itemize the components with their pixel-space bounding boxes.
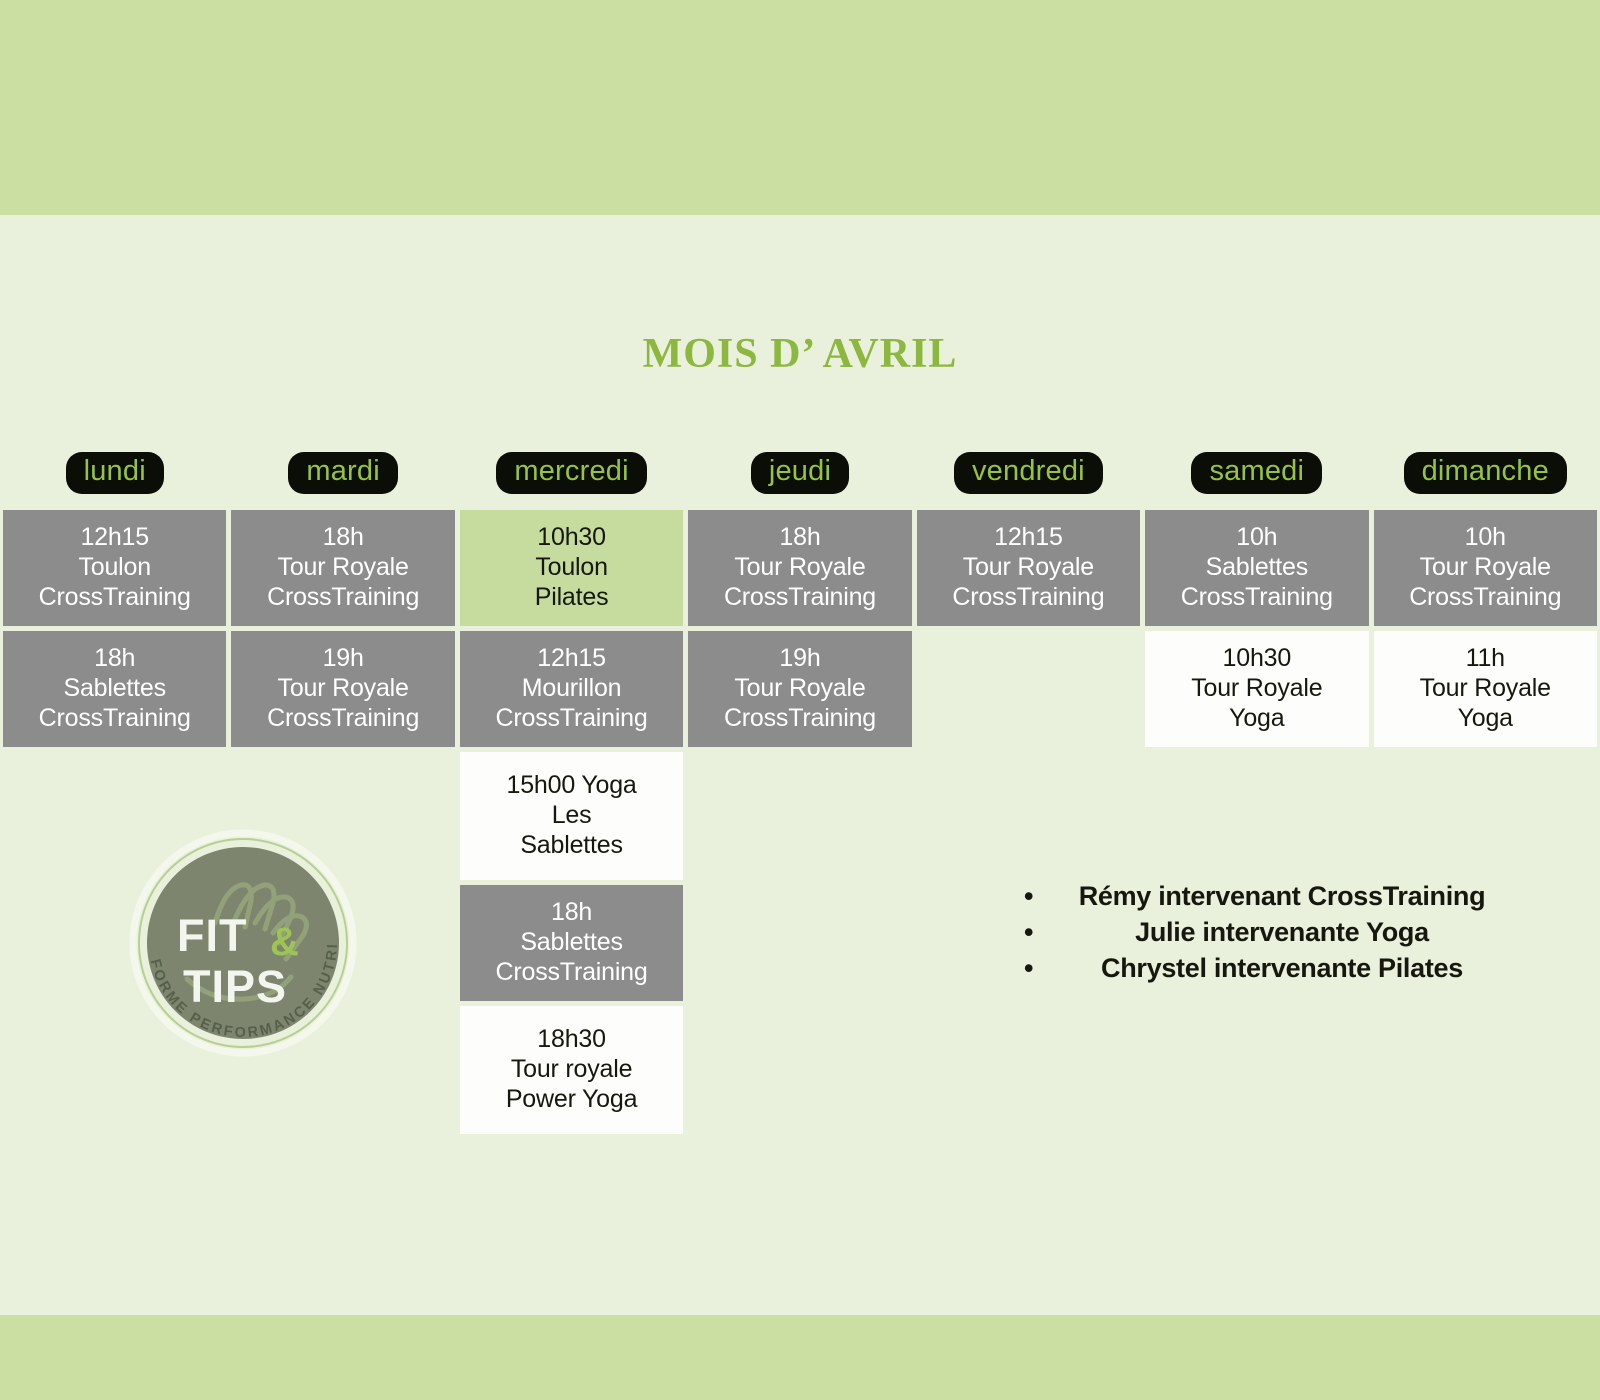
session-activity: CrossTraining [9,703,220,733]
session-place: Tour royale [466,1054,677,1084]
session-place: Les [466,800,677,830]
session-card-list: 10h30ToulonPilates12h15MourillonCrossTra… [460,510,683,1134]
session-activity: CrossTraining [466,957,677,987]
session-place: Tour Royale [694,552,905,582]
session-card-list: 12h15ToulonCrossTraining18hSablettesCros… [3,510,226,747]
bullet-icon: • [1024,914,1033,950]
session-place: Sablettes [1151,552,1362,582]
session-activity: Yoga [1151,703,1362,733]
day-pill-samedi[interactable]: samedi [1191,452,1322,494]
session-place: Toulon [466,552,677,582]
bottom-green-band [0,1315,1600,1400]
session-card-list: 18hTour RoyaleCrossTraining19hTour Royal… [688,510,911,747]
session-card-list: 12h15Tour RoyaleCrossTraining [917,510,1140,626]
session-card[interactable]: 15h00 YogaLesSablettes [460,752,683,880]
session-card[interactable]: 12h15Tour RoyaleCrossTraining [917,510,1140,626]
day-column-lundi: lundi12h15ToulonCrossTraining18hSablette… [3,452,226,747]
session-card[interactable]: 11hTour RoyaleYoga [1374,631,1597,747]
session-place: Sablettes [466,927,677,957]
session-place: Tour Royale [923,552,1134,582]
session-card[interactable]: 12h15ToulonCrossTraining [3,510,226,626]
session-activity: CrossTraining [1380,582,1591,612]
day-column-jeudi: jeudi18hTour RoyaleCrossTraining19hTour … [688,452,911,747]
session-activity: CrossTraining [694,703,905,733]
session-time: 12h15 [923,522,1134,552]
session-card[interactable]: 18hSablettesCrossTraining [3,631,226,747]
session-card[interactable]: 12h15MourillonCrossTraining [460,631,683,747]
session-card[interactable]: 18hTour RoyaleCrossTraining [688,510,911,626]
session-place: Tour Royale [1380,552,1591,582]
session-time: 15h00 Yoga [466,770,677,800]
session-card[interactable]: 18hSablettesCrossTraining [460,885,683,1001]
instructor-label: Julie intervenante Yoga [1135,917,1429,947]
session-activity: CrossTraining [694,582,905,612]
session-time: 10h30 [1151,643,1362,673]
session-place: Tour Royale [237,673,448,703]
session-time: 18h [466,897,677,927]
bullet-icon: • [1024,950,1033,986]
session-place: Tour Royale [237,552,448,582]
session-card-list: 10hSablettesCrossTraining10h30Tour Royal… [1145,510,1368,747]
session-card[interactable]: 18hTour RoyaleCrossTraining [231,510,454,626]
day-column-vendredi: vendredi12h15Tour RoyaleCrossTraining [917,452,1140,626]
session-time: 19h [237,643,448,673]
day-pill-jeudi[interactable]: jeudi [751,452,849,494]
session-card[interactable]: 10hSablettesCrossTraining [1145,510,1368,626]
session-card[interactable]: 10h30ToulonPilates [460,510,683,626]
instructor-label: Chrystel intervenante Pilates [1101,953,1463,983]
day-pill-dimanche[interactable]: dimanche [1404,452,1567,494]
session-activity: Sablettes [466,830,677,860]
instructor-list-item: •Chrystel intervenante Pilates [1012,950,1552,986]
session-time: 18h [9,643,220,673]
day-column-samedi: samedi10hSablettesCrossTraining10h30Tour… [1145,452,1368,747]
session-card[interactable]: 18h30Tour royalePower Yoga [460,1006,683,1134]
session-place: Toulon [9,552,220,582]
session-time: 18h [694,522,905,552]
session-time: 12h15 [466,643,677,673]
session-activity: CrossTraining [237,582,448,612]
session-activity: Yoga [1380,703,1591,733]
svg-text:&: & [270,920,299,964]
session-place: Sablettes [9,673,220,703]
session-time: 19h [694,643,905,673]
session-activity: CrossTraining [923,582,1134,612]
session-activity: CrossTraining [237,703,448,733]
day-pill-vendredi[interactable]: vendredi [954,452,1103,494]
top-green-band [0,0,1600,215]
session-time: 10h [1151,522,1362,552]
svg-text:TIPS: TIPS [183,961,287,1012]
day-pill-mardi[interactable]: mardi [288,452,398,494]
page-title: MOIS D’ AVRIL [0,330,1600,378]
day-column-mardi: mardi18hTour RoyaleCrossTraining19hTour … [231,452,454,747]
session-time: 11h [1380,643,1591,673]
session-activity: Pilates [466,582,677,612]
instructor-list-item: •Julie intervenante Yoga [1012,914,1552,950]
session-time: 10h [1380,522,1591,552]
session-card[interactable]: 10hTour RoyaleCrossTraining [1374,510,1597,626]
session-activity: CrossTraining [9,582,220,612]
instructor-list: •Rémy intervenant CrossTraining•Julie in… [1012,878,1552,987]
session-time: 18h30 [466,1024,677,1054]
day-column-dimanche: dimanche10hTour RoyaleCrossTraining11hTo… [1374,452,1597,747]
session-time: 12h15 [9,522,220,552]
instructor-label: Rémy intervenant CrossTraining [1079,881,1486,911]
instructor-list-item: •Rémy intervenant CrossTraining [1012,878,1552,914]
svg-text:FIT: FIT [177,910,247,961]
session-card[interactable]: 19hTour RoyaleCrossTraining [688,631,911,747]
session-place: Mourillon [466,673,677,703]
session-card[interactable]: 19hTour RoyaleCrossTraining [231,631,454,747]
session-place: Tour Royale [694,673,905,703]
session-place: Tour Royale [1380,673,1591,703]
session-time: 10h30 [466,522,677,552]
session-card-list: 10hTour RoyaleCrossTraining11hTour Royal… [1374,510,1597,747]
day-pill-mercredi[interactable]: mercredi [496,452,646,494]
poster-root: MOIS D’ AVRIL lundi12h15ToulonCrossTrain… [0,0,1600,1400]
day-pill-lundi[interactable]: lundi [66,452,164,494]
day-column-mercredi: mercredi10h30ToulonPilates12h15Mourillon… [460,452,683,1134]
session-activity: Power Yoga [466,1084,677,1114]
session-place: Tour Royale [1151,673,1362,703]
bullet-icon: • [1024,878,1033,914]
fit-and-tips-logo: FIT & TIPS FORME PERFORMANCE NUTRITION [127,827,359,1059]
session-time: 18h [237,522,448,552]
session-card-list: 18hTour RoyaleCrossTraining19hTour Royal… [231,510,454,747]
session-activity: CrossTraining [1151,582,1362,612]
session-activity: CrossTraining [466,703,677,733]
session-card[interactable]: 10h30Tour RoyaleYoga [1145,631,1368,747]
